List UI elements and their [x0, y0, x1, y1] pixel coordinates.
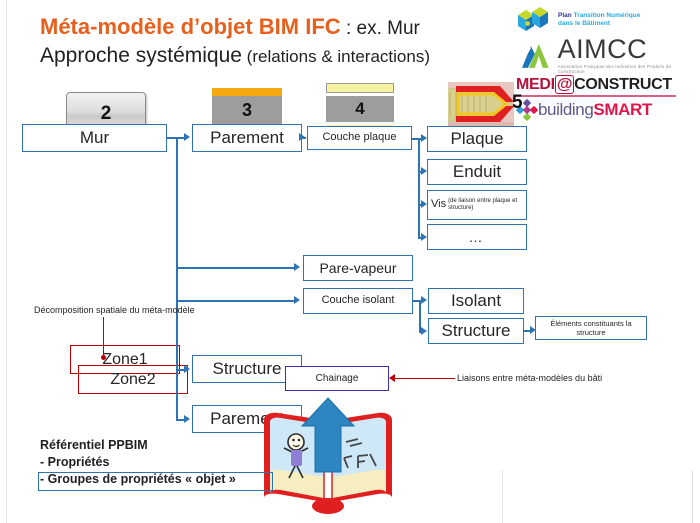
- medi-part: MEDI: [516, 76, 555, 93]
- title-line-2: Approche systémique (relations & interac…: [40, 43, 560, 70]
- bs-smart: SMART: [593, 100, 651, 119]
- connector-trunk-vertical: [176, 137, 178, 419]
- ptnb-word-batiment: dans le Bâtiment: [558, 20, 640, 28]
- box-pare-vapeur[interactable]: Pare-vapeur: [303, 255, 413, 281]
- buildingsmart-wordmark: buildingSMART: [538, 101, 652, 119]
- bs-building: building: [538, 100, 593, 119]
- vis-label: Vis: [431, 199, 446, 211]
- box-parement-top[interactable]: Parement: [192, 124, 302, 152]
- annotation-liaisons-leader: [395, 378, 455, 379]
- box-elements-constituants[interactable]: Éléments constituants la structure: [535, 316, 647, 340]
- title-subtitle: Approche systémique: [40, 44, 242, 67]
- ptnb-word-plan: Plan: [558, 12, 572, 19]
- logo-group: Plan Transition Numérique dans le Bâtime…: [508, 2, 698, 121]
- connector-trunk-structure: [176, 369, 184, 371]
- annotation-liaisons-arrow: [389, 374, 395, 382]
- title-subtitle-paren: (relations & interactions): [242, 47, 430, 66]
- chip-number-3: 3: [212, 96, 282, 124]
- ppbim-highlight-box[interactable]: [38, 472, 273, 491]
- connector-trunk-parement-bottom: [176, 419, 184, 421]
- box-mur[interactable]: Mur: [22, 124, 167, 152]
- logo-aimcc: AIMCC Association Française des Industri…: [508, 36, 698, 74]
- aimcc-tagline: Association Française des Industries des…: [558, 64, 698, 74]
- arrow-to-parement: [184, 133, 190, 141]
- logo-buildingsmart: buildingSMART: [508, 99, 698, 121]
- box-chainage[interactable]: Chainage: [285, 366, 389, 391]
- title-strong: Méta-modèle d’objet BIM IFC: [40, 14, 341, 39]
- blue-up-arrow-glyph: [300, 396, 356, 474]
- ptnb-wordmark: Plan Transition Numérique dans le Bâtime…: [558, 12, 640, 28]
- page-guide-right: [692, 470, 693, 523]
- ptnb-word-transition: Transition Numérique: [574, 12, 641, 19]
- annotation-decomposition: Décomposition spatiale du méta-modèle: [34, 305, 195, 315]
- ptnb-cubes-icon: [514, 3, 554, 37]
- arrow-elements: [530, 326, 536, 334]
- chip-number-5: 5: [512, 92, 523, 114]
- box-couche-isolant[interactable]: Couche isolant: [303, 288, 413, 314]
- logo-ptnb: Plan Transition Numérique dans le Bâtime…: [508, 2, 698, 38]
- box-zone2[interactable]: Zone2: [78, 365, 188, 394]
- box-isolant[interactable]: Isolant: [428, 288, 524, 314]
- box-ellipsis[interactable]: …: [427, 224, 527, 250]
- arrow-enduit: [421, 167, 427, 175]
- mediaconstruct-wordmark: MEDI@CONSTRUCT: [516, 75, 698, 94]
- construct-part: CONSTRUCT: [574, 76, 672, 93]
- box-couche-plaque[interactable]: Couche plaque: [307, 126, 412, 150]
- box-plaque[interactable]: Plaque: [427, 126, 527, 152]
- box-vis[interactable]: Vis (de liaison entre plaque et structur…: [427, 190, 527, 220]
- page-guide-left: [6, 0, 7, 523]
- connector-right-stack-trunk: [418, 138, 420, 238]
- ppbim-line-1: Référentiel PPBIM: [40, 437, 236, 454]
- page-guide-mid: [502, 470, 503, 523]
- aimcc-text-block: AIMCC Association Française des Industri…: [558, 36, 698, 74]
- aimcc-mountain-icon: [522, 40, 558, 70]
- annotation-decomposition-dot: [101, 355, 106, 360]
- title-suffix: : ex. Mur: [341, 18, 420, 39]
- arrow-pare-vapeur: [294, 263, 300, 271]
- arrow-parement-bottom: [184, 415, 190, 423]
- box-structure-right[interactable]: Structure: [428, 318, 524, 344]
- mediaconstruct-underline: [516, 95, 676, 97]
- swatch-3-top-stripe: [212, 88, 282, 96]
- slide-canvas: Méta-modèle d’objet BIM IFC : ex. Mur Ap…: [0, 0, 700, 523]
- box-enduit[interactable]: Enduit: [427, 159, 527, 185]
- arrow-couche-isolant: [294, 296, 300, 304]
- arrow-isolant: [421, 296, 427, 304]
- vis-sublabel: (de liaison entre plaque et structure): [448, 198, 523, 212]
- annotation-decomposition-leader: [103, 317, 104, 357]
- logo-mediaconstruct: MEDI@CONSTRUCT: [508, 75, 698, 97]
- annotation-liaisons: Liaisons entre méta-modèles du bâti: [457, 373, 602, 383]
- arrow-couche-plaque: [299, 133, 305, 141]
- connector-trunk-pare-vapeur: [176, 267, 294, 269]
- arrow-vis: [421, 200, 427, 208]
- connector-trunk-couche-isolant: [176, 300, 294, 302]
- up-arrow-icon: [300, 396, 356, 474]
- arrow-ellipsis: [421, 233, 427, 241]
- title-line-1: Méta-modèle d’objet BIM IFC : ex. Mur: [40, 14, 560, 42]
- arrow-structure-mid: [184, 365, 190, 373]
- chip-number-4: 4: [326, 96, 394, 122]
- at-symbol-icon: @: [555, 75, 574, 94]
- arrow-structure-right: [421, 327, 427, 335]
- ppbim-line-2: - Propriétés: [40, 454, 236, 471]
- page-title: Méta-modèle d’objet BIM IFC : ex. Mur Ap…: [40, 14, 560, 70]
- arrow-plaque: [421, 134, 427, 142]
- aimcc-wordmark: AIMCC: [558, 36, 698, 63]
- swatch-4-top-band: [326, 83, 394, 93]
